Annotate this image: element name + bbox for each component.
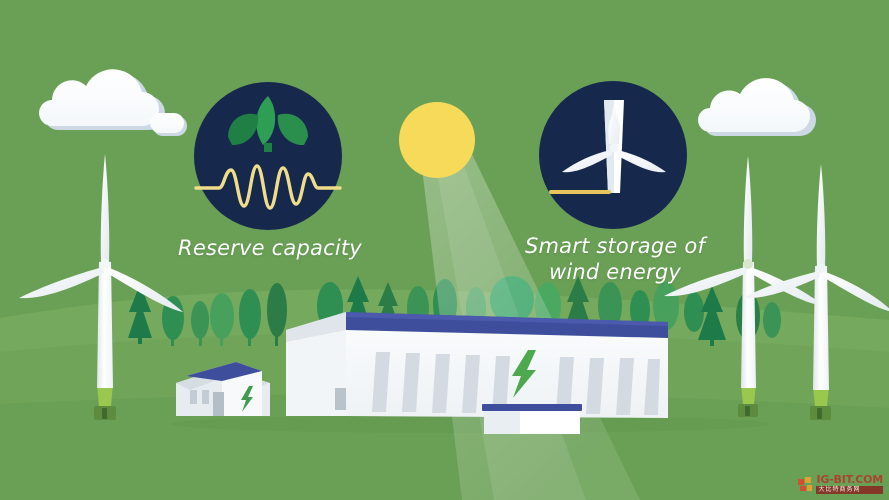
site-watermark: IG-BIT.COM 大比特商务网 <box>798 474 883 494</box>
watermark-logo-icon <box>798 477 813 492</box>
illustration-canvas: Reserve capacity Smart storage of wind e… <box>0 0 889 500</box>
badge-label-reserve-capacity: Reserve capacity <box>150 236 390 262</box>
watermark-subtitle: 大比特商务网 <box>816 486 883 494</box>
watermark-title: IG-BIT.COM <box>816 474 883 485</box>
badge-label-smart-storage: Smart storage of wind energy <box>495 234 735 285</box>
badge-reserve-capacity[interactable] <box>194 82 342 230</box>
badge-layer <box>0 0 889 500</box>
badge-smart-storage[interactable] <box>539 81 687 229</box>
accent-line <box>549 190 611 194</box>
